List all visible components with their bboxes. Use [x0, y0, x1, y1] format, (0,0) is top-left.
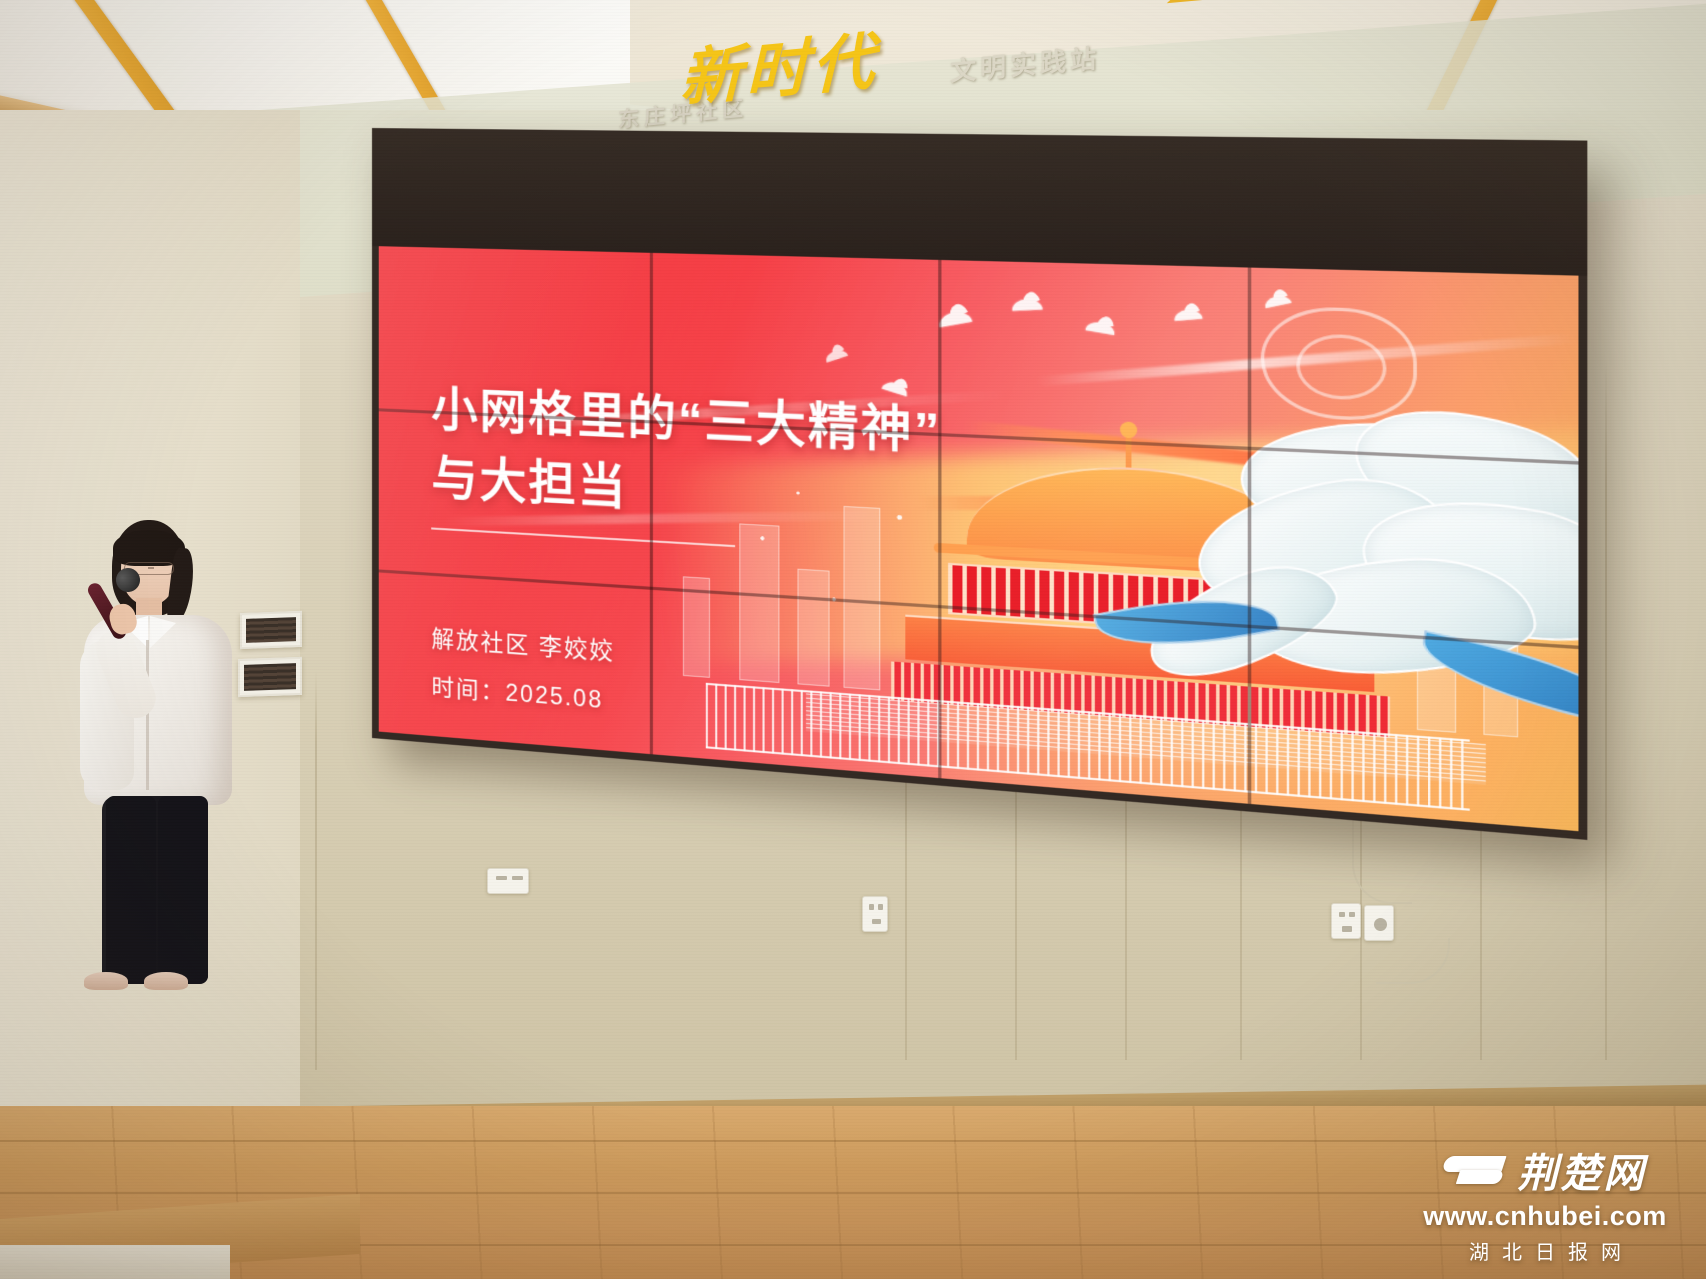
watermark-url: www.cnhubei.com	[1406, 1201, 1684, 1232]
slide-meta-block: 解放社区 李姣姣 时间：2025.08	[431, 605, 614, 716]
wall-sign-main: 新时代	[680, 10, 878, 118]
wall-switch[interactable]	[1364, 905, 1394, 941]
mountain-icon	[1167, 0, 1218, 3]
presenter	[58, 520, 238, 1000]
presenter-leg	[158, 796, 208, 984]
display-tile-seam	[1247, 268, 1251, 804]
watermark-brand: 荆楚网	[1518, 1141, 1647, 1199]
presenter-shoe	[144, 972, 188, 990]
video-wall-display[interactable]: 小网格里的“三大精神” 与大担当 解放社区 李姣姣 时间：2025.08	[372, 128, 1587, 840]
wall-outlet[interactable]	[487, 868, 529, 894]
wall-sign-suffix: 文明实践站	[950, 38, 1100, 89]
watermark: 荆楚网 www.cnhubei.com 湖北日报网	[1406, 1141, 1684, 1265]
power-cable	[1376, 938, 1450, 984]
wall-outlet[interactable]	[1331, 903, 1361, 939]
display-tile-seam	[938, 260, 941, 778]
presenter-shoe	[84, 972, 128, 990]
photo-scene: 东庄坪社区 新时代 文明实践站	[0, 0, 1706, 1279]
presenter-leg	[106, 796, 156, 984]
slide-presenter: 解放社区 李姣姣	[431, 619, 614, 667]
stage-face	[0, 1245, 230, 1279]
wall-panel-seam	[1605, 360, 1607, 1060]
video-wall-screen[interactable]: 小网格里的“三大精神” 与大担当 解放社区 李姣姣 时间：2025.08	[379, 246, 1579, 831]
cnhubei-logo-icon	[1444, 1150, 1506, 1190]
skyline-building	[797, 569, 829, 687]
peony-flower	[1158, 403, 1578, 712]
wall-panel-seam	[315, 670, 317, 1070]
watermark-subtitle: 湖北日报网	[1406, 1236, 1684, 1265]
wall-outlet[interactable]	[862, 896, 888, 932]
air-vent-icon	[238, 657, 302, 697]
air-vent-icon	[240, 611, 302, 649]
display-tile-seam	[649, 253, 652, 754]
